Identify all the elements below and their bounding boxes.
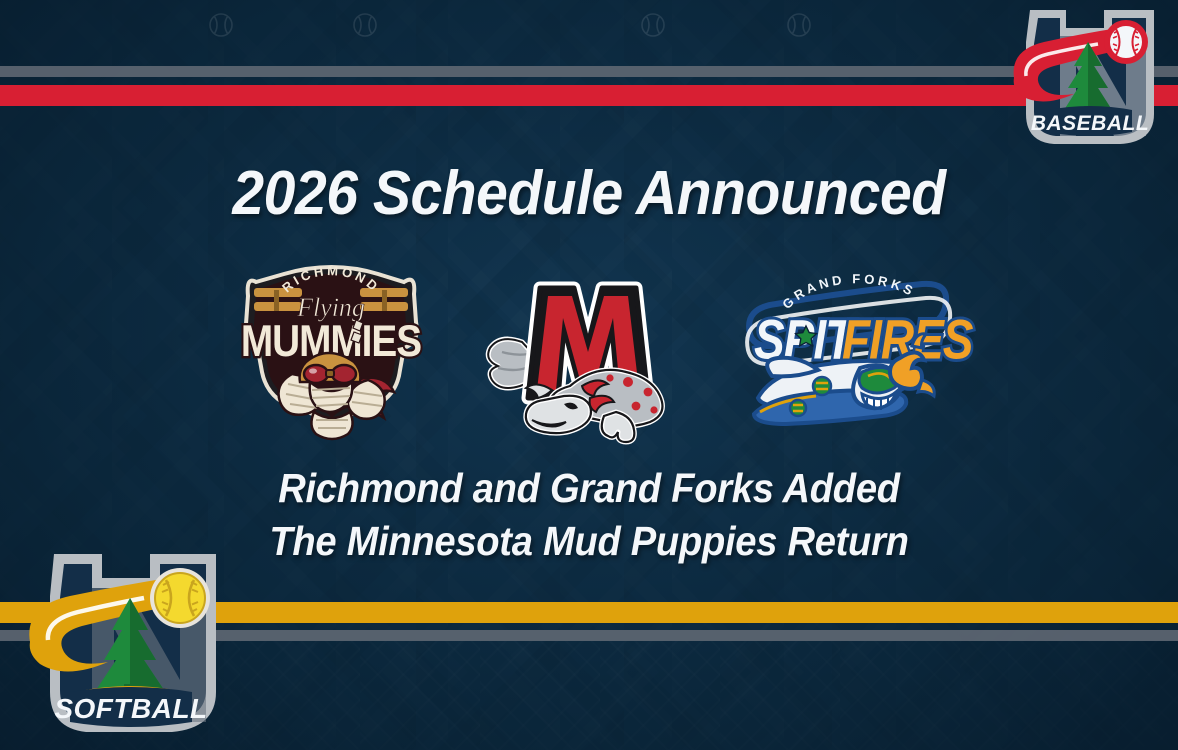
softball-icon bbox=[150, 568, 210, 628]
subline-1: Richmond and Grand Forks Added bbox=[41, 462, 1137, 515]
announcement-graphic: 2026 Schedule Announced RI bbox=[0, 0, 1178, 750]
team-logo-row: RICHMOND Flying MUMMIES bbox=[0, 250, 1178, 450]
baseball-seam-icon bbox=[208, 12, 234, 38]
team-logo-richmond-flying-mummies: RICHMOND Flying MUMMIES bbox=[228, 252, 434, 448]
baseball-seam-icon bbox=[786, 12, 812, 38]
baseball-seam-icon bbox=[352, 12, 378, 38]
baseball-icon bbox=[1104, 20, 1148, 64]
baseball-seam-icon bbox=[640, 12, 666, 38]
league-mark-softball-label: SOFTBALL bbox=[54, 693, 207, 724]
league-mark-softball: SOFTBALL bbox=[24, 542, 238, 744]
stripe-gray-top bbox=[0, 66, 1178, 77]
stripe-red bbox=[0, 85, 1178, 106]
team-logo-grand-forks-spitfires: GRAND FORKS SPIT FIRES bbox=[736, 272, 952, 438]
headline-title: 2026 Schedule Announced bbox=[47, 158, 1131, 229]
league-mark-baseball: BASEBALL bbox=[1008, 2, 1172, 152]
team-logo-minnesota-mud-puppies bbox=[478, 270, 698, 438]
league-mark-baseball-label: BASEBALL bbox=[1031, 112, 1149, 135]
